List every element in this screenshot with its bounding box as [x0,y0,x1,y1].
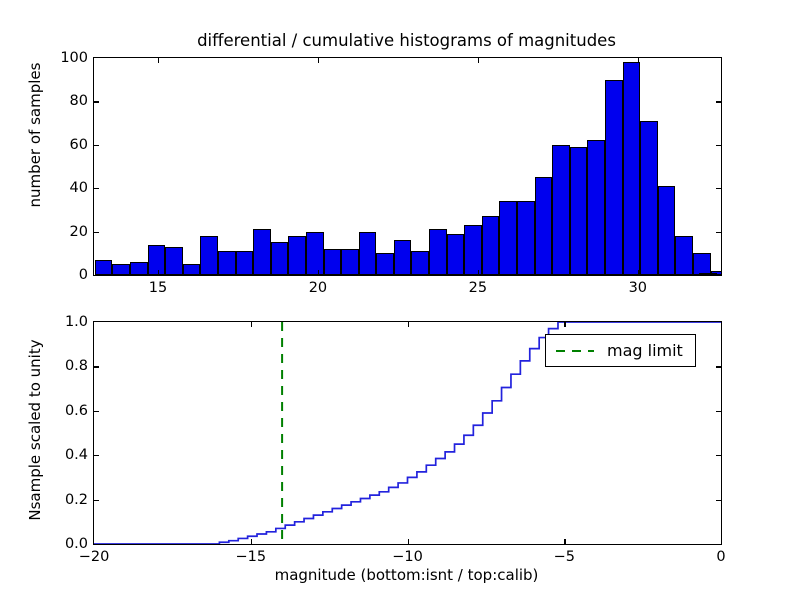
x-tick-label: 15 [149,280,167,296]
histogram-bar [464,225,482,275]
histogram-bar [394,240,412,275]
y-tick-mark [94,188,99,189]
y-tick-label: 100 [60,50,88,66]
y-tick-label: 0.4 [65,447,88,463]
y-tick-label: 0 [79,267,88,283]
x-tick-mark [408,322,409,327]
histogram-bar [429,229,447,275]
histogram-bar [130,262,148,275]
histogram-bar [271,242,289,275]
histogram-bar [324,249,342,275]
y-tick-label: 0.8 [65,358,88,374]
y-tick-mark [94,232,99,233]
top-histogram-plot-area [94,58,721,275]
histogram-bar [359,232,377,275]
y-tick-label: 1.0 [65,314,88,330]
y-tick-mark [716,145,721,146]
histogram-bar [236,251,254,275]
figure-title: differential / cumulative histograms of … [93,31,720,50]
mag-limit-line-swatch [556,350,594,352]
histogram-bar [623,62,641,275]
y-tick-mark [716,455,721,456]
x-tick-mark [158,270,159,275]
x-tick-label: 25 [469,280,487,296]
histogram-bar [165,247,183,275]
y-tick-mark [94,101,99,102]
cumulative-axes: 0.00.20.40.60.81.0 −20−15−10−50 mag limi… [93,321,722,545]
histogram-bar [640,121,658,275]
x-tick-mark [478,270,479,275]
histogram-bar [699,273,717,275]
x-tick-label: −15 [235,549,266,565]
histogram-bar [376,253,394,275]
histogram-bar [482,216,500,275]
y-tick-mark [716,101,721,102]
histogram-bar [675,236,693,275]
histogram-bar [587,140,605,275]
x-tick-label: −20 [79,549,110,565]
histogram-bar [341,249,359,275]
x-tick-label: 20 [309,280,327,296]
histogram-bar [218,251,236,275]
legend-box: mag limit [545,334,696,367]
x-tick-mark [318,270,319,275]
y-tick-label: 60 [70,137,88,153]
x-tick-mark [408,539,409,544]
histogram-bar [605,80,623,275]
histogram-bar [288,236,306,275]
y-tick-label: 0.2 [65,492,88,508]
histogram-bar [148,245,166,275]
y-tick-mark [716,411,721,412]
histogram-bar [552,145,570,275]
x-tick-mark [251,322,252,327]
x-tick-mark [478,58,479,63]
x-tick-mark [251,539,252,544]
y-tick-label: 0.6 [65,403,88,419]
histogram-bar [658,186,676,275]
histogram-bar [253,229,271,275]
x-tick-mark [564,539,565,544]
figure-canvas: differential / cumulative histograms of … [0,0,800,600]
histogram-bar [517,201,535,275]
bottom-panel-y-axis-label: Nsample scaled to unity [26,315,44,545]
histogram-bar [570,147,588,275]
x-tick-label: −10 [392,549,423,565]
histogram-bar [200,236,218,275]
legend-item-label: mag limit [607,341,683,360]
y-tick-mark [94,455,99,456]
y-tick-mark [94,145,99,146]
histogram-bar [112,264,130,275]
x-tick-mark [158,58,159,63]
y-tick-label: 80 [70,93,88,109]
x-tick-label: 0 [716,549,725,565]
y-tick-label: 40 [70,180,88,196]
histogram-bar [447,234,465,275]
histogram-bar [535,177,553,275]
y-tick-mark [94,411,99,412]
y-tick-mark [716,366,721,367]
histogram-bar [306,232,324,275]
y-tick-mark [716,500,721,501]
histogram-bar [95,260,113,275]
histogram-bar [499,201,517,275]
x-tick-label: 30 [629,280,647,296]
bottom-panel-x-axis-label: magnitude (bottom:isnt / top:calib) [93,566,720,584]
y-tick-label: 20 [70,224,88,240]
top-panel-y-axis-label: number of samples [26,25,44,245]
x-tick-mark [638,270,639,275]
y-tick-mark [716,232,721,233]
histogram-bar [411,251,429,275]
histogram-bar [183,264,201,275]
y-tick-mark [716,188,721,189]
x-tick-mark [638,58,639,63]
histogram-bar [693,253,711,275]
x-tick-mark [564,322,565,327]
x-tick-label: −5 [554,549,575,565]
x-tick-mark [318,58,319,63]
y-tick-mark [94,366,99,367]
y-tick-mark [94,500,99,501]
top-histogram-axes: 020406080100 15202530 [93,57,722,276]
